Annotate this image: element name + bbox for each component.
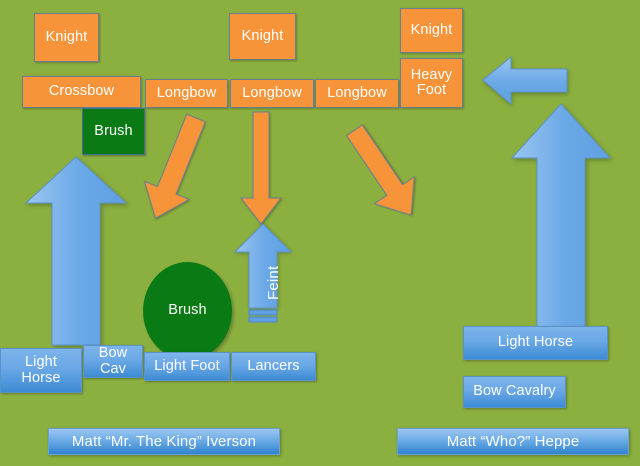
unit-bow-cav[interactable]: Bow Cav bbox=[83, 345, 143, 378]
orange-arrow-vertical-icon bbox=[236, 110, 286, 228]
orange-arrow-diagonal-left-icon bbox=[128, 105, 218, 230]
blue-arrow-feint-icon bbox=[232, 222, 294, 330]
blue-arrow-left-flank-icon bbox=[22, 153, 130, 349]
unit-bow-cavalry-right[interactable]: Bow Cavalry bbox=[463, 376, 566, 408]
unit-longbow-3[interactable]: Longbow bbox=[315, 79, 399, 108]
unit-heavy-foot[interactable]: Heavy Foot bbox=[400, 58, 463, 108]
feint-arrow-label: Feint bbox=[265, 266, 282, 300]
commander-banner-orange[interactable]: Matt “Who?” Heppe bbox=[397, 428, 629, 455]
unit-knight-left[interactable]: Knight bbox=[34, 13, 99, 62]
unit-knight-center[interactable]: Knight bbox=[229, 13, 296, 60]
unit-crossbow[interactable]: Crossbow bbox=[22, 76, 141, 108]
unit-light-foot[interactable]: Light Foot bbox=[144, 352, 230, 381]
terrain-brush-ellipse: Brush bbox=[143, 262, 232, 360]
commander-banner-blue[interactable]: Matt “Mr. The King” Iverson bbox=[48, 428, 280, 455]
blue-arrow-right-flank-icon bbox=[508, 100, 614, 336]
unit-knight-right[interactable]: Knight bbox=[400, 8, 463, 53]
unit-longbow-2[interactable]: Longbow bbox=[230, 79, 314, 108]
unit-lancers[interactable]: Lancers bbox=[231, 352, 316, 381]
unit-light-horse-right[interactable]: Light Horse bbox=[463, 326, 608, 360]
blue-arrow-left-push-icon bbox=[480, 54, 570, 108]
unit-light-horse-left[interactable]: Light Horse bbox=[0, 348, 82, 393]
orange-arrow-diagonal-right-icon bbox=[335, 112, 430, 232]
unit-longbow-1[interactable]: Longbow bbox=[145, 79, 228, 108]
battle-diagram-canvas: Knight Knight Knight Crossbow Longbow Lo… bbox=[0, 0, 640, 466]
